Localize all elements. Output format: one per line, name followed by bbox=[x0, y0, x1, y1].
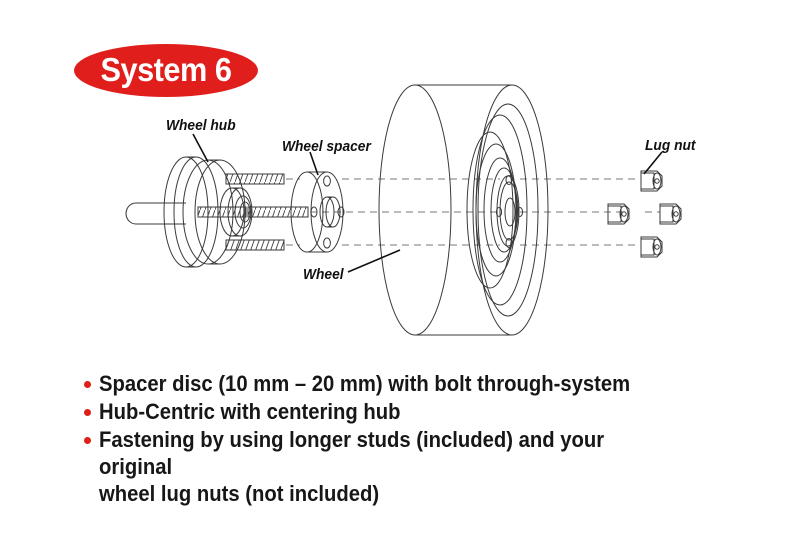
feature-list: Spacer disc (10 mm – 20 mm) with bolt th… bbox=[84, 370, 744, 508]
bullet-dot-icon bbox=[84, 437, 91, 444]
diagram-page: System 6 bbox=[0, 0, 800, 533]
callout-label-wheel-hub: Wheel hub bbox=[166, 118, 236, 134]
list-item: Spacer disc (10 mm – 20 mm) with bolt th… bbox=[84, 370, 744, 397]
wheel-assembly-diagram bbox=[0, 0, 800, 360]
axle-stub bbox=[126, 203, 186, 224]
list-item: Hub-Centric with centering hub bbox=[84, 398, 744, 425]
callout-label-lug-nut: Lug nut bbox=[645, 138, 695, 154]
wheel-part bbox=[379, 85, 548, 335]
callout-leader-lines bbox=[193, 134, 662, 272]
list-item: Fastening by using longer studs (include… bbox=[84, 426, 744, 507]
bullet-dot-icon bbox=[84, 409, 91, 416]
list-item-label: Spacer disc (10 mm – 20 mm) with bolt th… bbox=[99, 370, 630, 397]
callout-label-wheel-spacer: Wheel spacer bbox=[282, 139, 371, 155]
bullet-dot-icon bbox=[84, 381, 91, 388]
list-item-label: Hub-Centric with centering hub bbox=[99, 398, 401, 425]
lug-nut bbox=[660, 204, 681, 224]
lug-nut bbox=[641, 237, 662, 257]
leader-wheel bbox=[348, 250, 400, 272]
list-item-label: Fastening by using longer studs (include… bbox=[99, 426, 680, 507]
lug-nuts-group bbox=[608, 171, 681, 257]
lug-nut bbox=[608, 204, 629, 224]
callout-label-wheel: Wheel bbox=[303, 267, 344, 283]
